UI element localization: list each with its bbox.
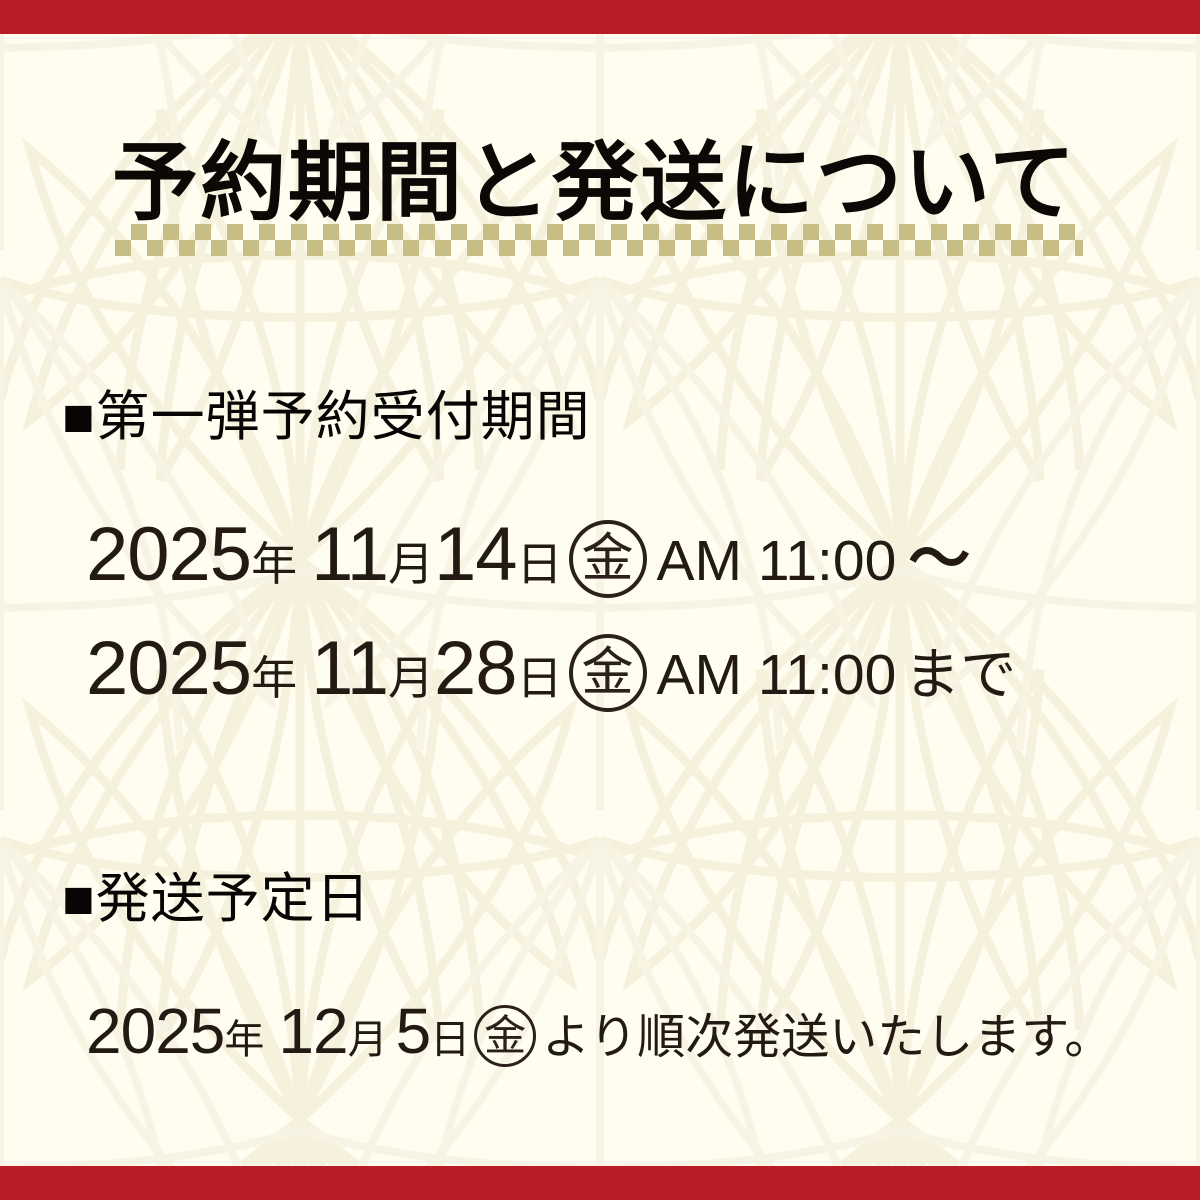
start-day: 14 — [434, 512, 517, 597]
page-title: 予約期間と発送について — [112, 140, 1077, 226]
ship-note-suffix: より順次発送いたします。 — [542, 1011, 1112, 1064]
end-day: 28 — [434, 626, 517, 711]
reservation-start-datetime: 2025年11月14日金AM 11:00～ — [86, 508, 970, 598]
start-time: AM 11:00 — [657, 529, 897, 593]
section-heading-reservation-label: 第一弾予約受付期間 — [96, 387, 591, 447]
start-day-unit: 日 — [517, 538, 563, 590]
start-weekday-label: 金 — [573, 533, 643, 585]
end-day-unit: 日 — [517, 652, 563, 704]
end-time: AM 11:00 — [657, 643, 897, 707]
ship-month: 12 — [278, 995, 347, 1067]
reservation-end-datetime: 2025年11月28日金AM 11:00まで — [86, 625, 1016, 712]
ship-day-unit: 日 — [430, 1018, 470, 1062]
ship-month-unit: 月 — [348, 1018, 388, 1062]
section-heading-shipping-label: 発送予定日 — [96, 869, 371, 929]
bullet-square-icon: ■ — [62, 387, 96, 447]
end-weekday-label: 金 — [573, 647, 643, 699]
end-range-suffix: まで — [904, 643, 1016, 706]
start-weekday-circled-badge: 金 — [569, 520, 647, 598]
poster-canvas: 予約期間と発送について ■第一弾予約受付期間 2025年11月14日金AM 11… — [0, 0, 1200, 1200]
ship-year-unit: 年 — [224, 1018, 264, 1062]
ship-weekday-circled-badge: 金 — [474, 1005, 536, 1067]
bottom-accent-bar — [0, 1166, 1200, 1200]
ship-weekday-label: 金 — [477, 1015, 533, 1057]
end-weekday-circled-badge: 金 — [569, 634, 647, 712]
bullet-square-icon-2: ■ — [62, 869, 96, 929]
title-divider-checker — [115, 224, 1083, 256]
start-year-unit: 年 — [251, 538, 297, 590]
start-month-unit: 月 — [388, 538, 434, 590]
start-month: 11 — [311, 512, 388, 597]
end-year-unit: 年 — [251, 652, 297, 704]
start-range-suffix: ～ — [896, 525, 970, 594]
end-year: 2025 — [86, 626, 251, 711]
section-heading-reservation: ■第一弾予約受付期間 — [62, 390, 591, 444]
start-year: 2025 — [86, 512, 251, 597]
shipping-start-date: 2025年12月5日金より順次発送いたします。 — [86, 994, 1112, 1068]
ship-year: 2025 — [86, 995, 224, 1067]
top-accent-bar — [0, 0, 1200, 34]
end-month-unit: 月 — [388, 652, 434, 704]
section-heading-shipping: ■発送予定日 — [62, 872, 371, 926]
ship-day: 5 — [396, 995, 431, 1067]
end-month: 11 — [311, 626, 388, 711]
